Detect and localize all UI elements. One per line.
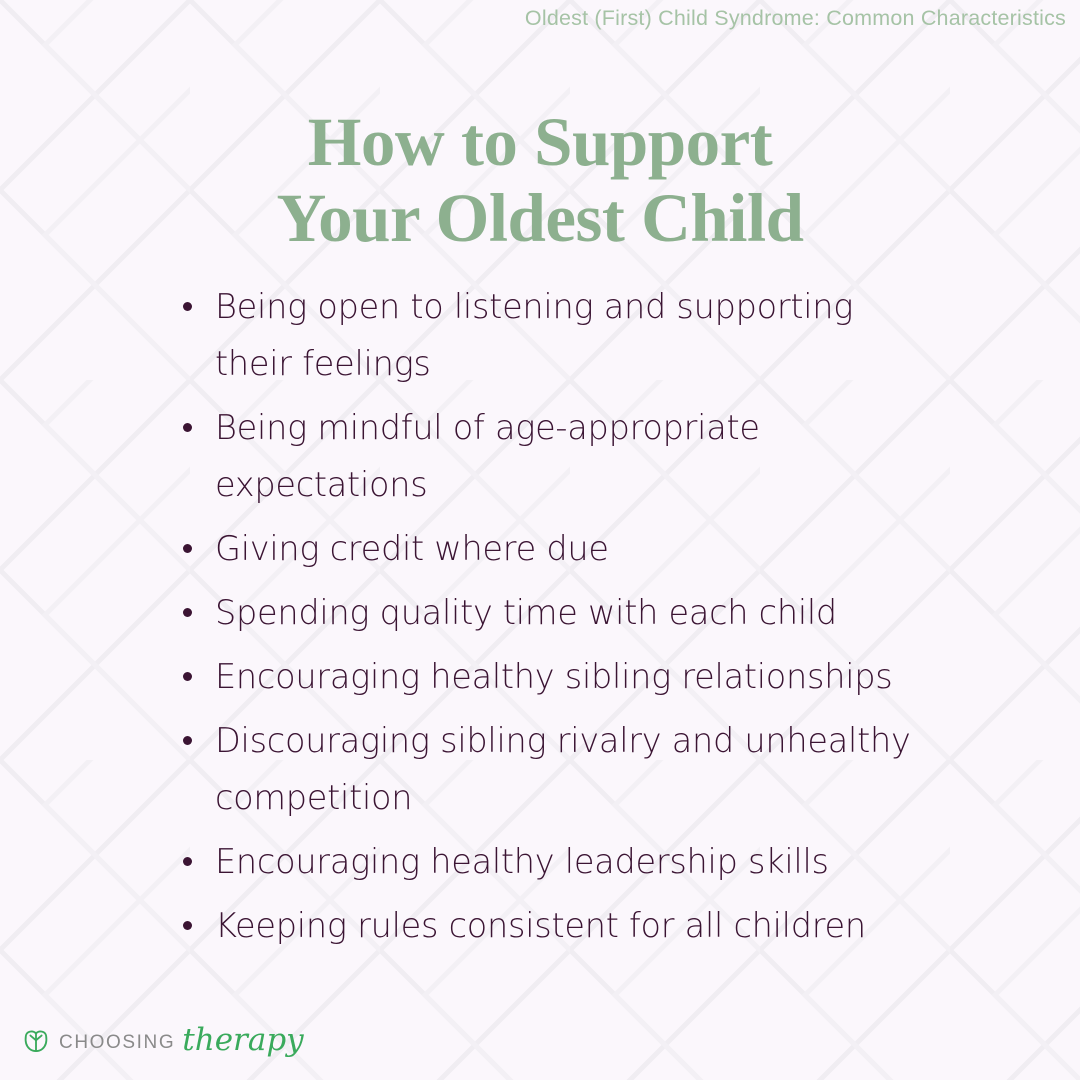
support-tips-list: Being open to listening and supporting t… (178, 278, 1058, 961)
list-item: Encouraging healthy sibling relationship… (178, 648, 1058, 705)
eyebrow-label: Oldest (First) Child Syndrome: Common Ch… (525, 6, 1066, 31)
logo-wordmark-choosing: Choosing (59, 1033, 175, 1052)
bullet-dot-icon (183, 302, 192, 311)
page-title: How to Support Your Oldest Child (0, 104, 1080, 256)
list-item-label: Encouraging healthy leadership skills (215, 833, 935, 890)
list-item: Discouraging sibling rivalry and unhealt… (178, 712, 1058, 826)
bullet-dot-icon (183, 608, 192, 617)
slide-canvas: Oldest (First) Child Syndrome: Common Ch… (0, 0, 1080, 1080)
list-item-label: Keeping rules consistent for all childre… (215, 897, 935, 954)
list-item-label: Giving credit where due (215, 520, 935, 577)
bullet-dot-icon (183, 423, 192, 432)
list-item: Spending quality time with each child (178, 584, 1058, 641)
bullet-dot-icon (183, 857, 192, 866)
list-item-label: Spending quality time with each child (215, 584, 935, 641)
list-item-label: Being open to listening and supporting t… (215, 278, 935, 392)
logo-wordmark-therapy: therapy (182, 1025, 303, 1056)
brand-logo: Choosing therapy (22, 1022, 304, 1062)
bullet-dot-icon (183, 544, 192, 553)
list-item-label: Being mindful of age-appropriate expecta… (215, 399, 935, 513)
page-title-line-2: Your Oldest Child (0, 180, 1080, 256)
list-item: Being open to listening and supporting t… (178, 278, 1058, 392)
list-item-label: Encouraging healthy sibling relationship… (215, 648, 935, 705)
page-title-line-1: How to Support (0, 104, 1080, 180)
list-item: Keeping rules consistent for all childre… (178, 897, 1058, 954)
list-item: Encouraging healthy leadership skills (178, 833, 1058, 890)
bullet-dot-icon (183, 736, 192, 745)
leaf-flower-icon (22, 1028, 50, 1056)
list-item: Giving credit where due (178, 520, 1058, 577)
bullet-dot-icon (183, 672, 192, 681)
list-item-label: Discouraging sibling rivalry and unhealt… (215, 712, 935, 826)
bullet-dot-icon (183, 921, 192, 930)
list-item: Being mindful of age-appropriate expecta… (178, 399, 1058, 513)
